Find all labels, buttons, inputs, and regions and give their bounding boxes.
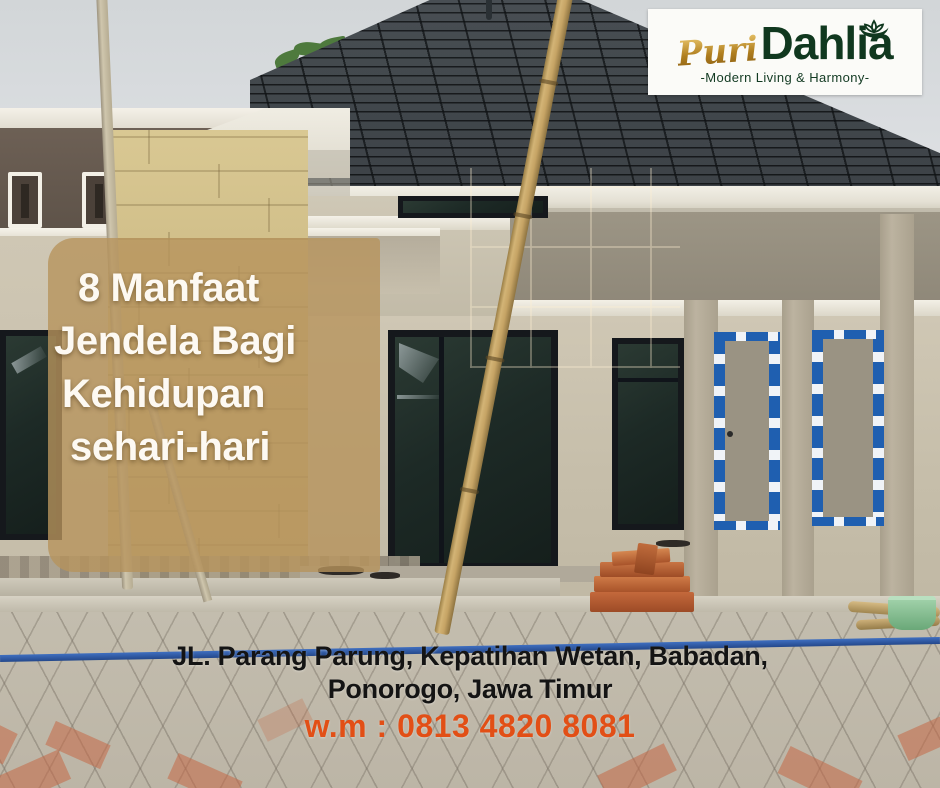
green-bucket (888, 596, 936, 630)
address-line-2: Ponorogo, Jawa Timur (0, 673, 940, 706)
debris-2 (370, 572, 400, 579)
headline-line-3: Kehidupan (48, 368, 388, 421)
brand-logo-wordmark: Puri Dahlia (648, 20, 922, 74)
headline-line-4: sehari-hari (48, 421, 388, 474)
promo-image-canvas: 8 Manfaat Jendela Bagi Kehidupan sehari-… (0, 0, 940, 788)
brand-logo-card[interactable]: Puri Dahlia -Modern Living & Harmony- (648, 9, 922, 95)
debris-3 (656, 540, 690, 547)
door-knob (727, 431, 733, 437)
brand-name-script: Puri (676, 32, 759, 72)
porch-pillar-2 (782, 300, 814, 640)
lotus-icon (854, 18, 894, 42)
wood-plank-pile (590, 548, 698, 614)
porch-pillar-3 (880, 214, 914, 644)
taped-window-1 (714, 332, 780, 530)
address-line-1: JL. Parang Parung, Kepatihan Wetan, Baba… (172, 641, 767, 671)
taped-window-2 (812, 330, 884, 526)
headline-text: 8 Manfaat Jendela Bagi Kehidupan sehari-… (48, 262, 388, 474)
address-block: JL. Parang Parung, Kepatihan Wetan, Baba… (0, 640, 940, 706)
contact-number[interactable]: w.m : 0813 4820 8081 (0, 708, 940, 745)
headline-line-2: Jendela Bagi (48, 315, 388, 368)
wall-vent-left (8, 172, 42, 228)
headline-line-1: 8 Manfaat (48, 262, 388, 315)
